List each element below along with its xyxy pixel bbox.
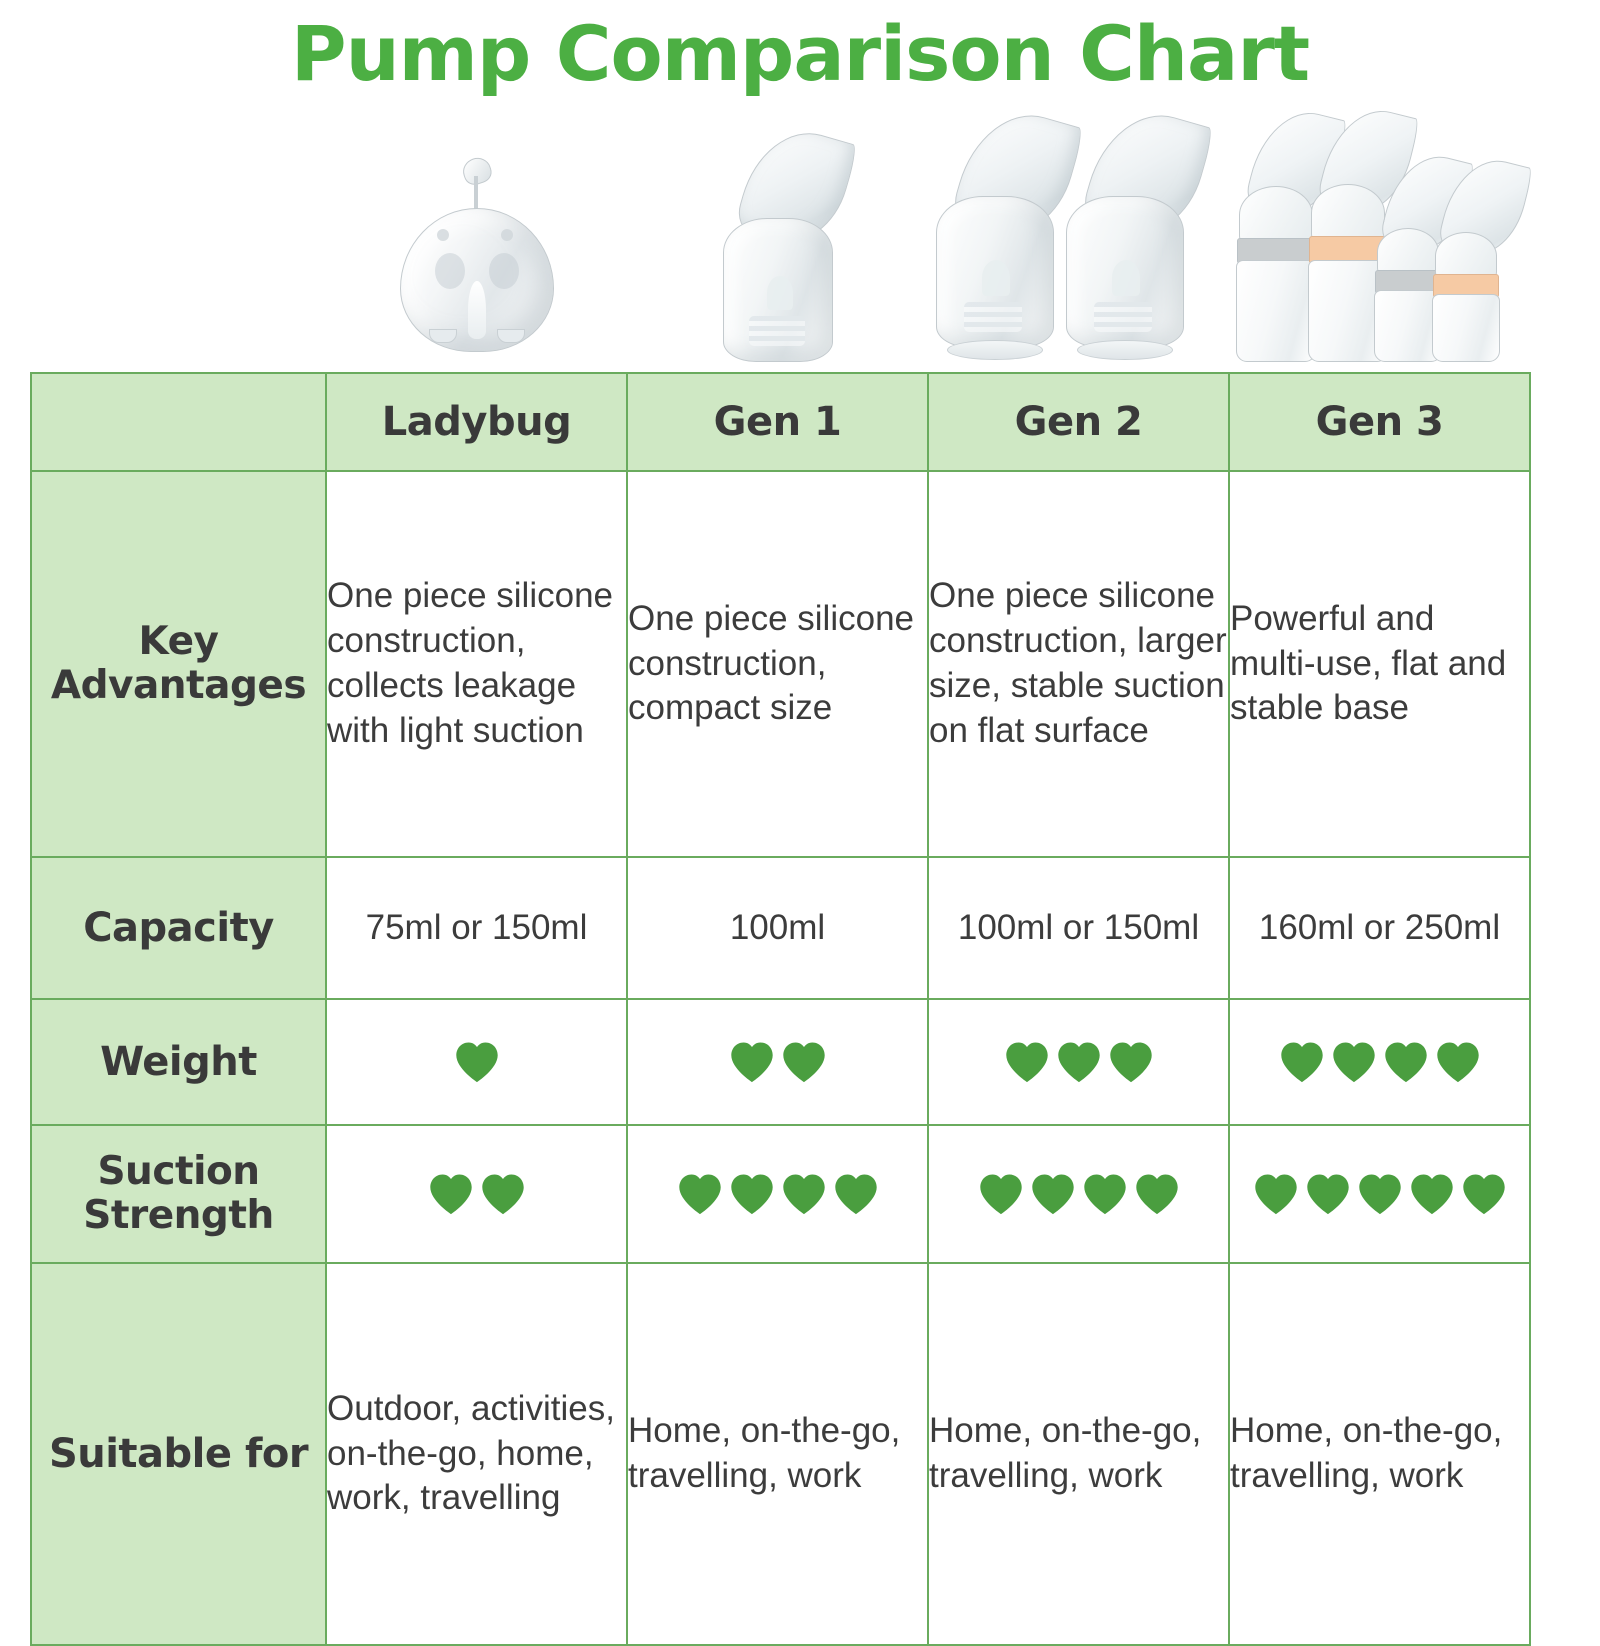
cell-suitable-gen1: Home, on-the-go, travelling, work	[627, 1263, 928, 1645]
header-cell-gen2: Gen 2	[928, 373, 1229, 471]
heart-icon	[677, 1172, 723, 1216]
heart-icon	[729, 1040, 775, 1084]
header-cell-gen3: Gen 3	[1229, 373, 1530, 471]
gen2-pump-image	[928, 112, 1229, 370]
bottle-dome-icon	[1377, 228, 1439, 276]
ladybug-dot-icon	[501, 229, 513, 241]
heart-icon	[1409, 1172, 1455, 1216]
gen1-pump-image	[626, 112, 927, 370]
cell-text: One piece silicone construction, compact…	[628, 597, 927, 731]
cell-suction-gen3	[1229, 1125, 1530, 1263]
cell-weight-ladybug	[326, 999, 627, 1125]
rating-hearts	[677, 1172, 879, 1216]
cell-suction-ladybug	[326, 1125, 627, 1263]
table-row-suction-strength: Suction Strength	[31, 1125, 1530, 1263]
pump-ribs-icon	[749, 316, 805, 346]
cell-text: Outdoor, activities, on-the-go, home, wo…	[327, 1387, 626, 1521]
pump-valve-icon	[982, 260, 1010, 296]
cell-key-advantages-gen3: Powerful and multi-use, flat and stable …	[1229, 471, 1530, 857]
bottle-dome-icon	[1435, 232, 1497, 280]
cell-capacity-ladybug: 75ml or 150ml	[326, 857, 627, 999]
pump-comparison-page: Pump Comparison Chart	[0, 0, 1600, 1600]
cell-key-advantages-ladybug: One piece silicone construction, collect…	[326, 471, 627, 857]
cell-text: Home, on-the-go, travelling, work	[628, 1409, 927, 1499]
bottle-jar-icon	[1236, 260, 1316, 362]
cell-text: Home, on-the-go, travelling, work	[1230, 1409, 1529, 1499]
bottle-jar-icon	[1432, 294, 1500, 362]
header-corner-cell	[31, 373, 326, 471]
ladybug-eye-icon	[489, 253, 519, 289]
ladybug-nose-icon	[468, 281, 486, 339]
heart-icon	[833, 1172, 879, 1216]
row-label-suction-strength: Suction Strength	[31, 1125, 326, 1263]
rating-hearts	[978, 1172, 1180, 1216]
bottle-dome-icon	[1311, 184, 1385, 242]
heart-icon	[1134, 1172, 1180, 1216]
cell-suitable-gen2: Home, on-the-go, travelling, work	[928, 1263, 1229, 1645]
cell-suitable-ladybug: Outdoor, activities, on-the-go, home, wo…	[326, 1263, 627, 1645]
cell-weight-gen1	[627, 999, 928, 1125]
row-label-weight: Weight	[31, 999, 326, 1125]
rating-hearts	[729, 1040, 827, 1084]
heart-icon	[1082, 1172, 1128, 1216]
ladybug-foot-icon	[429, 329, 457, 343]
heart-icon	[1435, 1040, 1481, 1084]
pump-ribs-icon	[1094, 302, 1152, 332]
header-cell-gen1: Gen 1	[627, 373, 928, 471]
heart-icon	[1030, 1172, 1076, 1216]
heart-icon	[1108, 1040, 1154, 1084]
heart-icon	[1357, 1172, 1403, 1216]
table-row-weight: Weight	[31, 999, 1530, 1125]
heart-icon	[1004, 1040, 1050, 1084]
cell-key-advantages-gen1: One piece silicone construction, compact…	[627, 471, 928, 857]
cell-suction-gen2	[928, 1125, 1229, 1263]
cell-suitable-gen3: Home, on-the-go, travelling, work	[1229, 1263, 1530, 1645]
row-label-capacity: Capacity	[31, 857, 326, 999]
ladybug-body-icon	[400, 208, 554, 352]
comparison-table: Ladybug Gen 1 Gen 2 Gen 3 Key Advantages…	[30, 372, 1531, 1646]
cell-capacity-gen3: 160ml or 250ml	[1229, 857, 1530, 999]
table-header-row: Ladybug Gen 1 Gen 2 Gen 3	[31, 373, 1530, 471]
heart-icon	[1056, 1040, 1102, 1084]
heart-icon	[454, 1040, 500, 1084]
ladybug-eye-icon	[435, 253, 465, 289]
rating-hearts	[454, 1040, 500, 1084]
page-title: Pump Comparison Chart	[0, 14, 1600, 94]
cell-capacity-gen1: 100ml	[627, 857, 928, 999]
table-row-suitable-for: Suitable for Outdoor, activities, on-the…	[31, 1263, 1530, 1645]
heart-icon	[781, 1040, 827, 1084]
heart-icon	[1383, 1040, 1429, 1084]
cell-text: One piece silicone construction, larger …	[929, 574, 1228, 753]
bottle-dome-icon	[1239, 186, 1313, 244]
pump-valve-icon	[767, 276, 793, 310]
heart-icon	[1461, 1172, 1507, 1216]
product-image-strip	[325, 112, 1530, 370]
pump-valve-icon	[1112, 260, 1140, 296]
row-label-suitable-for: Suitable for	[31, 1263, 326, 1645]
heart-icon	[729, 1172, 775, 1216]
cell-key-advantages-gen2: One piece silicone construction, larger …	[928, 471, 1229, 857]
heart-icon	[1331, 1040, 1377, 1084]
header-cell-ladybug: Ladybug	[326, 373, 627, 471]
table-row-capacity: Capacity 75ml or 150ml 100ml 100ml or 15…	[31, 857, 1530, 999]
cell-text: Powerful and multi-use, flat and stable …	[1230, 597, 1529, 731]
heart-icon	[1253, 1172, 1299, 1216]
gen3-bottles-icon	[1229, 106, 1529, 364]
rating-hearts	[1279, 1040, 1481, 1084]
cell-weight-gen2	[928, 999, 1229, 1125]
pump-base-icon	[947, 340, 1043, 360]
ladybug-dot-icon	[437, 229, 449, 241]
table-row-key-advantages: Key Advantages One piece silicone constr…	[31, 471, 1530, 857]
cell-text: Home, on-the-go, travelling, work	[929, 1409, 1228, 1499]
heart-icon	[781, 1172, 827, 1216]
cell-suction-gen1	[627, 1125, 928, 1263]
heart-icon	[480, 1172, 526, 1216]
gen3-bottle-set-image	[1229, 112, 1530, 370]
rating-hearts	[428, 1172, 526, 1216]
ladybug-pump-image	[325, 112, 626, 370]
pump-ribs-icon	[964, 302, 1022, 332]
cell-text: One piece silicone construction, collect…	[327, 574, 626, 753]
cell-capacity-gen2: 100ml or 150ml	[928, 857, 1229, 999]
ladybug-foot-icon	[497, 329, 525, 343]
rating-hearts	[1253, 1172, 1507, 1216]
rating-hearts	[1004, 1040, 1154, 1084]
gen1-pump-icon	[627, 126, 927, 362]
heart-icon	[978, 1172, 1024, 1216]
cell-weight-gen3	[1229, 999, 1530, 1125]
heart-icon	[428, 1172, 474, 1216]
pump-base-icon	[1077, 340, 1173, 360]
row-label-key-advantages: Key Advantages	[31, 471, 326, 857]
gen2-pump-icon	[928, 112, 1228, 362]
heart-icon	[1279, 1040, 1325, 1084]
heart-icon	[1305, 1172, 1351, 1216]
